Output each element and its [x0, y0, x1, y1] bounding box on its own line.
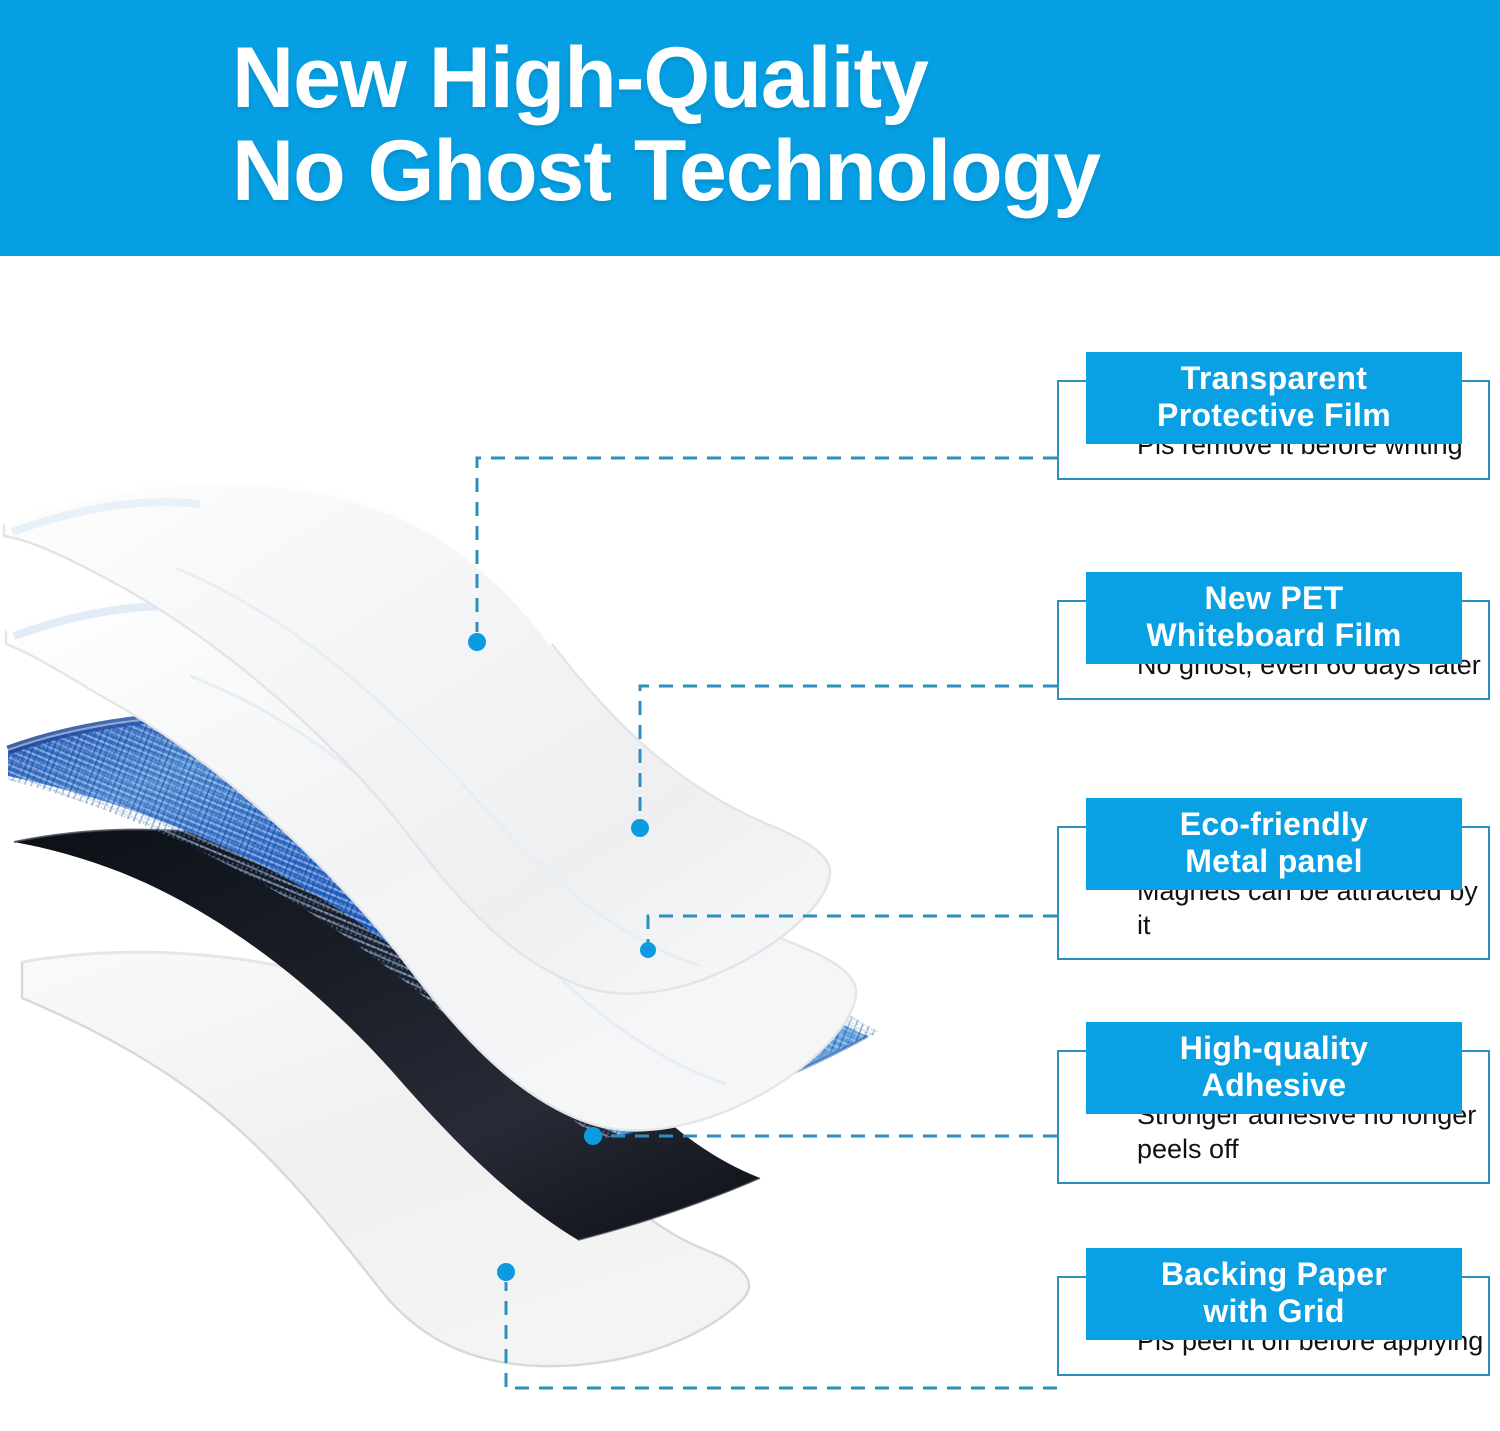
page-title: New High-Quality No Ghost Technology [232, 32, 1472, 218]
callout-title: High-quality Adhesive [1086, 1022, 1462, 1114]
callout-title: Eco-friendly Metal panel [1086, 798, 1462, 890]
header-banner: New High-Quality No Ghost Technology [0, 0, 1500, 256]
callout-title: New PET Whiteboard Film [1086, 572, 1462, 664]
callout-title: Backing Paper with Grid [1086, 1248, 1462, 1340]
callout-title: Transparent Protective Film [1086, 352, 1462, 444]
product-layers-illustration [0, 256, 1060, 1431]
